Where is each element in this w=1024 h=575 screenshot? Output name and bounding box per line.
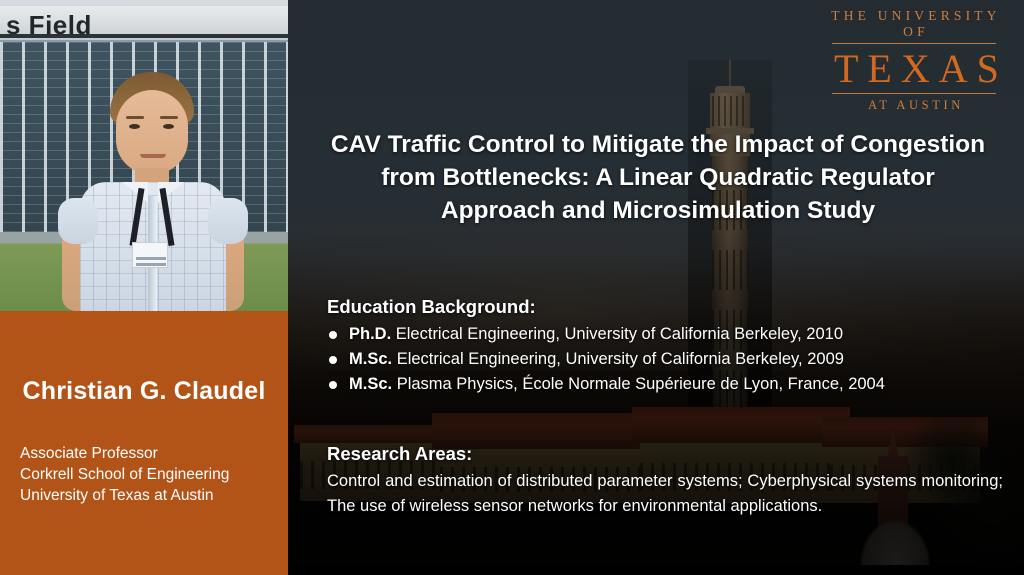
- list-item: M.Sc. Electrical Engineering, University…: [327, 347, 1003, 372]
- presentation-title: CAV Traffic Control to Mitigate the Impa…: [326, 128, 990, 227]
- speaker-university: University of Texas at Austin: [20, 485, 276, 506]
- person-eyebrow-right: [160, 116, 178, 119]
- building-fascia: s Field: [0, 6, 288, 38]
- research-heading: Research Areas:: [327, 443, 1003, 465]
- person-eye-left: [129, 124, 140, 129]
- education-list: Ph.D. Electrical Engineering, University…: [327, 322, 1003, 397]
- degree-label: Ph.D.: [349, 325, 391, 343]
- speaker-name-panel: Christian G. Claudel Associate Professor…: [0, 311, 288, 575]
- id-badge: [132, 242, 168, 268]
- person-sleeve-left: [58, 198, 98, 244]
- list-item: M.Sc. Plasma Physics, École Normale Supé…: [327, 372, 1003, 397]
- person-figure: [58, 72, 248, 311]
- person-sleeve-right: [208, 198, 248, 244]
- speaker-photo: s Field: [0, 0, 288, 311]
- degree-label: M.Sc.: [349, 375, 392, 393]
- education-heading: Education Background:: [327, 296, 1003, 318]
- research-body: Control and estimation of distributed pa…: [327, 469, 1003, 519]
- left-column: s Field: [0, 0, 288, 575]
- person-mouth: [140, 154, 166, 158]
- degree-detail: Electrical Engineering, University of Ca…: [392, 350, 844, 368]
- person-eyebrow-left: [126, 116, 144, 119]
- speaker-school: Corkrell School of Engineering: [20, 464, 276, 485]
- person-eye-right: [163, 124, 174, 129]
- slide-content: CAV Traffic Control to Mitigate the Impa…: [288, 0, 1024, 575]
- person-face: [116, 90, 188, 174]
- list-item: Ph.D. Electrical Engineering, University…: [327, 322, 1003, 347]
- speaker-title: Associate Professor: [20, 443, 276, 464]
- building-sign-text: s Field: [6, 10, 92, 41]
- research-section: Research Areas: Control and estimation o…: [327, 443, 1003, 519]
- presentation-slide: s Field: [0, 0, 1024, 575]
- education-section: Education Background: Ph.D. Electrical E…: [327, 296, 1003, 397]
- degree-detail: Plasma Physics, École Normale Supérieure…: [392, 375, 885, 393]
- degree-label: M.Sc.: [349, 350, 392, 368]
- speaker-name: Christian G. Claudel: [0, 377, 288, 406]
- degree-detail: Electrical Engineering, University of Ca…: [391, 325, 843, 343]
- speaker-affiliation: Associate Professor Corkrell School of E…: [20, 443, 276, 506]
